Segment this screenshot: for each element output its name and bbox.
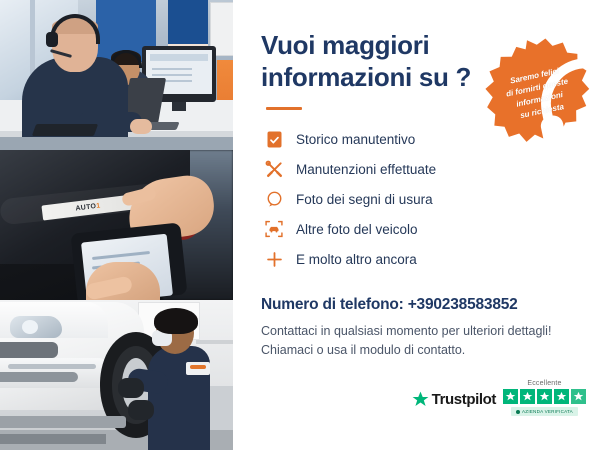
callout-badge: Saremo felici di fornirti queste informa…: [474, 28, 600, 156]
mechanic-glove-second: [128, 400, 154, 420]
floor: [0, 137, 233, 150]
wall-shelf: [196, 340, 233, 344]
star-icon: [520, 389, 535, 404]
trustpilot-wordmark: Trustpilot: [432, 391, 496, 408]
car-grille: [0, 342, 58, 358]
tools-cross-icon: [261, 160, 287, 179]
contact-instructions: Contattaci in qualsiasi momento per ulte…: [261, 322, 574, 360]
headline-line-1: Vuoi maggiori: [261, 30, 429, 60]
page-title: Vuoi maggiori informazioni su ?: [261, 30, 476, 93]
star-icon: [554, 389, 569, 404]
feature-item-altre-foto-veicolo: Altre foto del veicolo: [261, 214, 574, 244]
agent-one-hand: [130, 119, 152, 134]
content-panel: Saremo felici di fornirti queste informa…: [233, 0, 600, 450]
mechanic-hair: [154, 308, 198, 334]
feature-label: Storico manutentivo: [296, 132, 415, 147]
title-divider: [266, 107, 302, 110]
monitor-stand: [172, 102, 186, 111]
bumper-air-vent: [0, 372, 78, 382]
sticker-prefix: AUTO: [75, 203, 97, 212]
feature-item-foto-segni-usura: Foto dei segni di usura: [261, 184, 574, 214]
trustpilot-logo: Trustpilot: [412, 391, 496, 416]
rating-label: Eccellente: [527, 380, 561, 387]
contact-line-1: Contattaci in qualsiasi momento per ulte…: [261, 322, 574, 341]
car-frame-icon: [261, 220, 287, 238]
photo-column: AUTO1: [0, 0, 233, 450]
monitor-row: [152, 68, 192, 70]
verified-label: AZIENDA VERIFICATA: [522, 409, 573, 414]
star-rating: [503, 389, 586, 404]
feature-label: Altre foto del veicolo: [296, 222, 418, 237]
vehicle-inspection-tablet-photo: AUTO1: [0, 150, 233, 300]
plus-icon: [261, 251, 287, 268]
call-center-agents-photo: [0, 0, 233, 150]
verified-badge: AZIENDA VERIFICATA: [511, 407, 578, 416]
feature-label: Foto dei segni di usura: [296, 192, 433, 207]
uniform-logo-patch: [186, 362, 210, 375]
promo-banner: AUTO1: [0, 0, 600, 450]
star-icon: [412, 391, 429, 408]
star-icon: [571, 389, 586, 404]
headlight-lens: [22, 320, 38, 334]
monitor-row: [152, 74, 192, 76]
headline-line-2: informazioni su ?: [261, 62, 471, 92]
verified-check-icon: [516, 410, 520, 414]
sticker-suffix: 1: [96, 202, 101, 209]
clipboard-check-icon: [261, 131, 287, 148]
contact-line-2: Chiamaci o usa il modulo di contatto.: [261, 341, 574, 360]
vehicle-lift-arm: [0, 416, 126, 428]
feature-item-molto-altro: E molto altro ancora: [261, 244, 574, 274]
phone-number[interactable]: Numero di telefono: +390238583852: [261, 296, 574, 314]
agent-one-earcup: [46, 32, 58, 47]
wall-poster: [168, 0, 208, 47]
mechanic-wheel-check-photo: [0, 300, 233, 450]
trustpilot-rating[interactable]: Trustpilot Eccellente: [412, 380, 586, 416]
star-icon: [537, 389, 552, 404]
feature-label: E molto altro ancora: [296, 252, 417, 267]
feature-label: Manutenzioni effettuate: [296, 162, 436, 177]
monitor-toolbar: [150, 54, 208, 61]
bumper-chrome-trim: [8, 364, 96, 369]
trustpilot-score: Eccellente: [503, 380, 586, 416]
feature-item-manutenzioni-effettuate: Manutenzioni effettuate: [261, 154, 574, 184]
speech-bubble-icon: [261, 191, 287, 208]
mechanic-glove: [118, 378, 144, 398]
desk-tablet: [32, 124, 98, 136]
vehicle-lift-base: [0, 434, 106, 444]
star-icon: [503, 389, 518, 404]
